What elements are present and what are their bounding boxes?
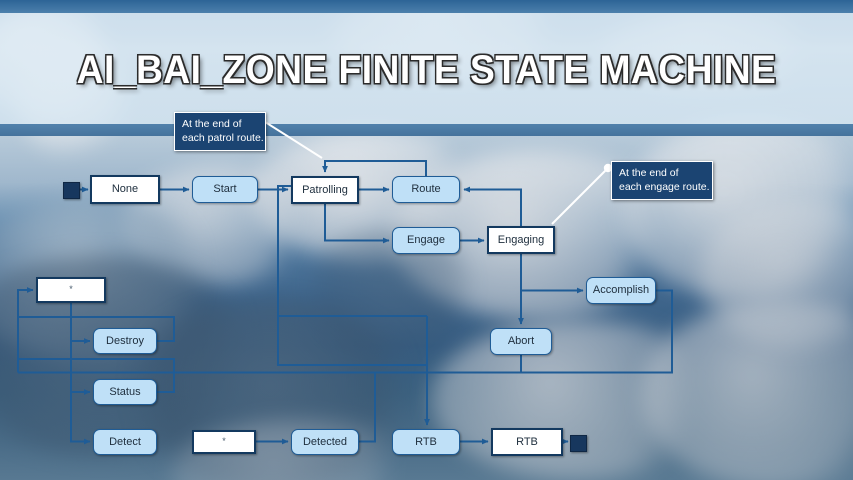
state-node-any-state-1[interactable]: *	[36, 277, 106, 303]
node-label: Detected	[303, 436, 347, 448]
start-terminal	[63, 182, 80, 199]
state-node-start[interactable]: Start	[192, 176, 258, 203]
state-node-detected[interactable]: Detected	[291, 429, 359, 455]
state-node-abort[interactable]: Abort	[490, 328, 552, 355]
node-label: Destroy	[106, 335, 144, 347]
state-node-engaging[interactable]: Engaging	[487, 226, 555, 254]
node-label: Engaging	[498, 234, 545, 246]
state-node-rtb-white[interactable]: RTB	[491, 428, 563, 456]
state-node-detect[interactable]: Detect	[93, 429, 157, 455]
node-label: None	[112, 183, 138, 195]
callout-engage-route: At the end of each engage route.	[611, 161, 713, 200]
slide-canvas: AI_BAI_ZONE FINITE STATE MACHINE	[0, 0, 853, 480]
state-node-rtb-blue[interactable]: RTB	[392, 429, 460, 455]
state-node-none[interactable]: None	[90, 175, 160, 204]
end-terminal	[570, 435, 587, 452]
node-label: Patrolling	[302, 184, 348, 196]
node-label: *	[69, 285, 73, 295]
node-label: Status	[109, 386, 140, 398]
node-label: Accomplish	[593, 284, 649, 296]
node-label: RTB	[516, 436, 538, 448]
node-label: Abort	[508, 335, 534, 347]
state-node-route[interactable]: Route	[392, 176, 460, 203]
state-node-destroy[interactable]: Destroy	[93, 328, 157, 354]
callout-line-2: each patrol route.	[182, 131, 258, 145]
callout-line-1: At the end of	[182, 117, 258, 131]
state-node-any-state-2[interactable]: *	[192, 430, 256, 454]
state-node-patrolling[interactable]: Patrolling	[291, 176, 359, 204]
state-node-accomplish[interactable]: Accomplish	[586, 277, 656, 304]
state-node-status[interactable]: Status	[93, 379, 157, 405]
node-label: *	[222, 437, 226, 447]
callout-line-2: each engage route.	[619, 180, 705, 194]
node-label: Start	[213, 183, 236, 195]
node-label: Engage	[407, 234, 445, 246]
node-label: Detect	[109, 436, 141, 448]
callout-patrol-route: At the end of each patrol route.	[174, 112, 266, 151]
callout-leader-lines	[259, 117, 611, 224]
node-label: RTB	[415, 436, 437, 448]
node-label: Route	[411, 183, 440, 195]
callout-line-1: At the end of	[619, 166, 705, 180]
state-machine-diagram: None Start Patrolling Route Engage Engag…	[0, 0, 853, 480]
state-node-engage[interactable]: Engage	[392, 227, 460, 254]
